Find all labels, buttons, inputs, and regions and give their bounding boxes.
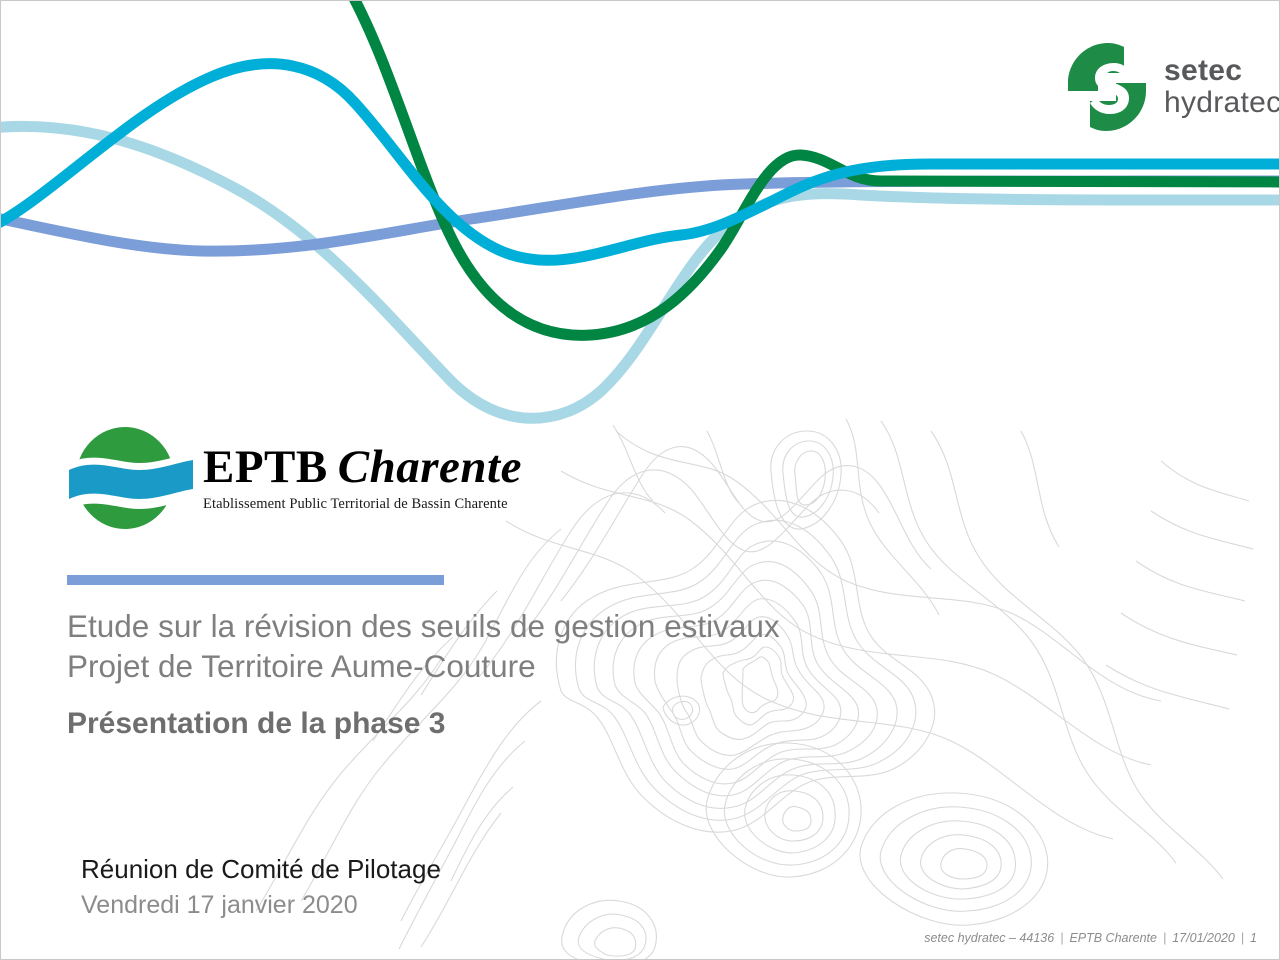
setec-s-mark: [1064, 39, 1150, 135]
title-line-1: Etude sur la révision des seuils de gest…: [67, 606, 967, 646]
eptb-wordmark: EPTBCharente: [203, 444, 522, 491]
periwinkle-wave: [1, 181, 1280, 251]
footer-separator-3: |: [1241, 931, 1244, 945]
lightblue-wave: [1, 126, 1280, 418]
eptb-tagline: Etablissement Public Territorial de Bass…: [203, 496, 522, 513]
footer-page-number: 1: [1250, 931, 1257, 945]
eptb-charente-logo: EPTBCharente Etablissement Public Territ…: [69, 423, 509, 533]
footer-client: EPTB Charente: [1069, 931, 1157, 945]
footer-separator-1: |: [1060, 931, 1063, 945]
meeting-block: Réunion de Comité de Pilotage Vendredi 1…: [81, 854, 441, 920]
eptb-wordmark-acronym: EPTB: [203, 441, 328, 493]
setec-word-line2: hydratec: [1164, 87, 1280, 119]
footer-project: setec hydratec – 44136: [924, 931, 1054, 945]
setec-hydratec-logo: setec hydratec: [1064, 37, 1269, 137]
footer-date: 17/01/2020: [1172, 931, 1235, 945]
meeting-title: Réunion de Comité de Pilotage: [81, 854, 441, 885]
accent-bar: [67, 575, 444, 585]
meeting-date: Vendredi 17 janvier 2020: [81, 890, 441, 920]
title-line-2: Projet de Territoire Aume-Couture: [67, 646, 967, 686]
setec-wordmark: setec hydratec: [1164, 55, 1280, 120]
slide-footer: setec hydratec – 44136 | EPTB Charente |…: [924, 931, 1257, 945]
eptb-globe-wave-mark: [69, 423, 193, 533]
eptb-text-block: EPTBCharente Etablissement Public Territ…: [203, 444, 522, 513]
setec-word-line1: setec: [1164, 55, 1280, 87]
title-block: Etude sur la révision des seuils de gest…: [67, 606, 967, 741]
footer-separator-2: |: [1163, 931, 1166, 945]
eptb-wordmark-name: Charente: [338, 441, 522, 493]
presentation-slide: setec hydratec EPTBCharente Etablissemen…: [0, 0, 1280, 960]
phase-subtitle: Présentation de la phase 3: [67, 707, 967, 741]
